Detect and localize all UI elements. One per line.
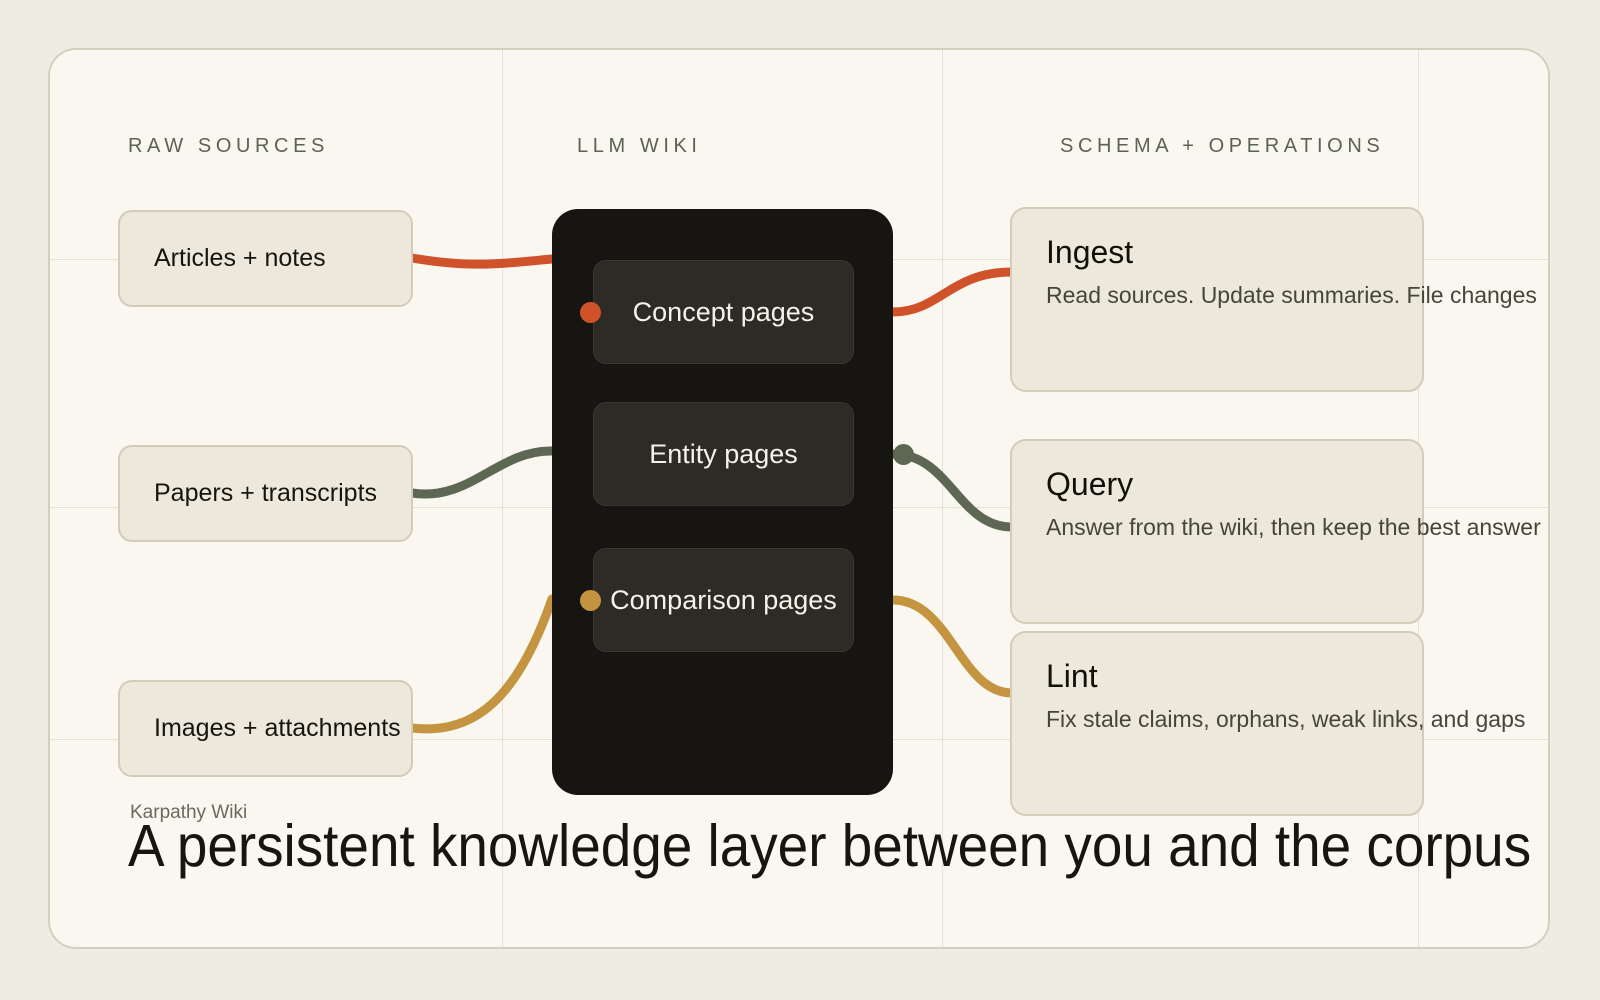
operation-description: Fix stale claims, orphans, weak links, a… bbox=[1046, 706, 1422, 733]
operation-card-lint[interactable]: Lint Fix stale claims, orphans, weak lin… bbox=[1010, 631, 1424, 816]
column-header-llm-wiki: LLM WIKI bbox=[577, 135, 702, 158]
hub-chip-concept-pages[interactable]: Concept pages bbox=[593, 260, 854, 364]
flow-concept-to-ingest bbox=[893, 272, 1012, 312]
operation-card-ingest[interactable]: Ingest Read sources. Update summaries. F… bbox=[1010, 207, 1424, 392]
hub-chip-comparison-pages[interactable]: Comparison pages bbox=[593, 548, 854, 652]
source-card-articles-notes[interactable]: Articles + notes bbox=[118, 210, 413, 307]
llm-wiki-hub-panel: Concept pages Entity pages Comparison pa… bbox=[552, 209, 893, 795]
connector-dot-comparison-left bbox=[580, 590, 601, 611]
operation-description: Answer from the wiki, then keep the best… bbox=[1046, 514, 1422, 541]
operation-description: Read sources. Update summaries. File cha… bbox=[1046, 282, 1422, 309]
diagram-frame: RAW SOURCES LLM WIKI SCHEMA + OPERATIONS… bbox=[48, 48, 1550, 949]
column-header-raw-sources: RAW SOURCES bbox=[128, 135, 329, 158]
hub-chip-label: Comparison pages bbox=[610, 585, 837, 616]
hub-chip-label: Entity pages bbox=[649, 439, 798, 470]
page-headline: A persistent knowledge layer between you… bbox=[128, 812, 1531, 880]
connector-dot-entity-right bbox=[893, 444, 914, 465]
flow-comparison-to-lint bbox=[893, 600, 1012, 693]
operation-title: Lint bbox=[1046, 659, 1422, 694]
column-header-schema-operations: SCHEMA + OPERATIONS bbox=[1060, 135, 1384, 158]
source-card-papers-transcripts[interactable]: Papers + transcripts bbox=[118, 445, 413, 542]
source-card-label: Articles + notes bbox=[154, 244, 326, 273]
operation-title: Ingest bbox=[1046, 235, 1422, 270]
source-card-images-attachments[interactable]: Images + attachments bbox=[118, 680, 413, 777]
flow-images-to-comparison bbox=[412, 599, 552, 729]
connector-dot-concept-left bbox=[580, 302, 601, 323]
flow-entity-to-query bbox=[893, 454, 1012, 527]
flow-papers-to-entity bbox=[412, 451, 552, 494]
hub-chip-entity-pages[interactable]: Entity pages bbox=[593, 402, 854, 506]
operation-title: Query bbox=[1046, 467, 1422, 502]
source-card-label: Images + attachments bbox=[154, 714, 401, 743]
hub-chip-label: Concept pages bbox=[633, 297, 815, 328]
operation-card-query[interactable]: Query Answer from the wiki, then keep th… bbox=[1010, 439, 1424, 624]
source-card-label: Papers + transcripts bbox=[154, 479, 377, 508]
